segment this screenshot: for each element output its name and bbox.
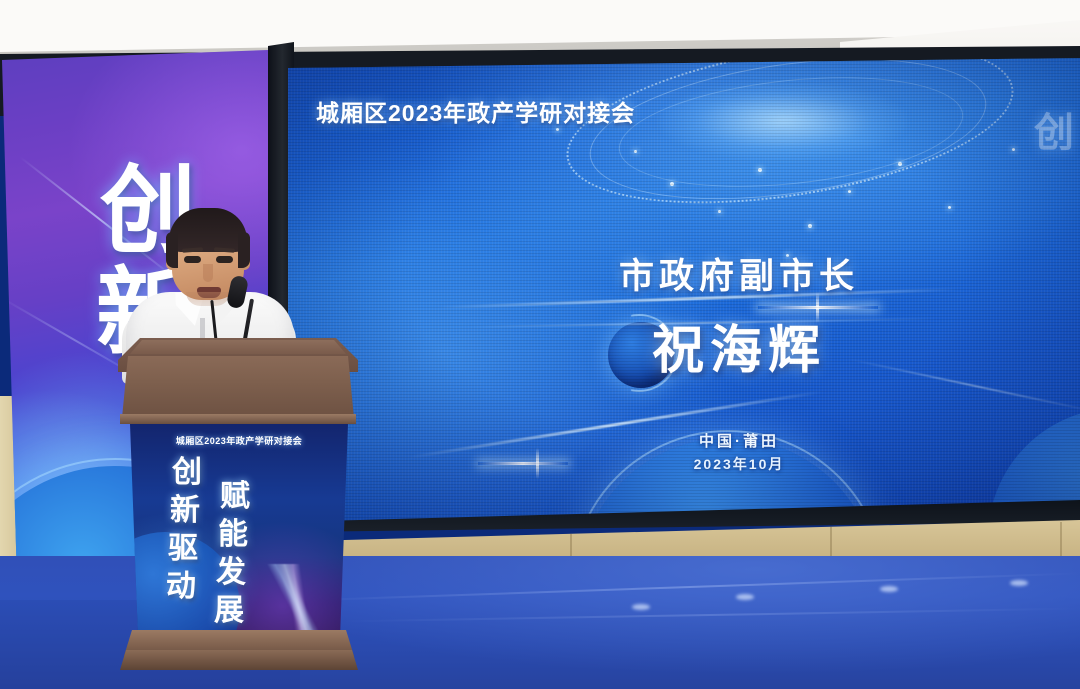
led-corner-calligraphy: 创: [1034, 100, 1074, 158]
podium-calligraphy-1-1: 创: [172, 458, 202, 488]
speaker-eye-left: [184, 256, 201, 263]
led-stage-screen: 城厢区2023年政产学研对接会 创 市政府副市长 祝海辉 中国·莆田 2023年…: [288, 58, 1080, 530]
led-title-text: 市政府副市长: [288, 248, 1080, 299]
carpet-fold: [300, 572, 1080, 601]
speaker-hair: [169, 208, 247, 252]
podium-calligraphy-1-2: 新: [170, 496, 200, 526]
podium-front-panel: 城厢区2023年政产学研对接会 创 新 驱 动 赋 能 发 展: [130, 424, 348, 638]
led-header-text: 城厢区2023年政产学研对接会: [316, 94, 635, 128]
podium-calligraphy-2-4: 展: [214, 596, 244, 626]
led-date-text: 2023年10月: [288, 454, 1080, 474]
carpet-highlight: [880, 586, 898, 592]
podium-header-text: 城厢区2023年政产学研对接会: [130, 434, 348, 447]
podium-base-plinth: [120, 650, 358, 670]
carpet-highlight: [632, 604, 650, 610]
podium-calligraphy-1-3: 驱: [168, 534, 198, 564]
led-speaker-name: 祝海辉: [288, 308, 1080, 383]
carpet-highlight: [736, 594, 754, 600]
conference-scene: 创 新: [0, 0, 1080, 689]
podium-calligraphy-2-1: 赋: [220, 482, 250, 512]
podium-calligraphy-2-3: 发: [216, 558, 246, 588]
led-place-text: 中国·莆田: [288, 430, 1080, 451]
speaker-nose: [203, 264, 213, 282]
speaker-eye-right: [216, 256, 233, 263]
carpet-fold: [340, 608, 1080, 623]
podium-top-face: [130, 340, 346, 354]
podium-lip: [120, 414, 356, 424]
speaker-hair-side-right: [238, 232, 250, 268]
podium-calligraphy-1-4: 动: [166, 572, 196, 602]
podium-calligraphy-2-2: 能: [218, 520, 248, 550]
carpet-highlight: [1010, 580, 1028, 586]
speaker-hair-side-left: [166, 232, 178, 268]
podium-upper-body: [122, 356, 354, 418]
